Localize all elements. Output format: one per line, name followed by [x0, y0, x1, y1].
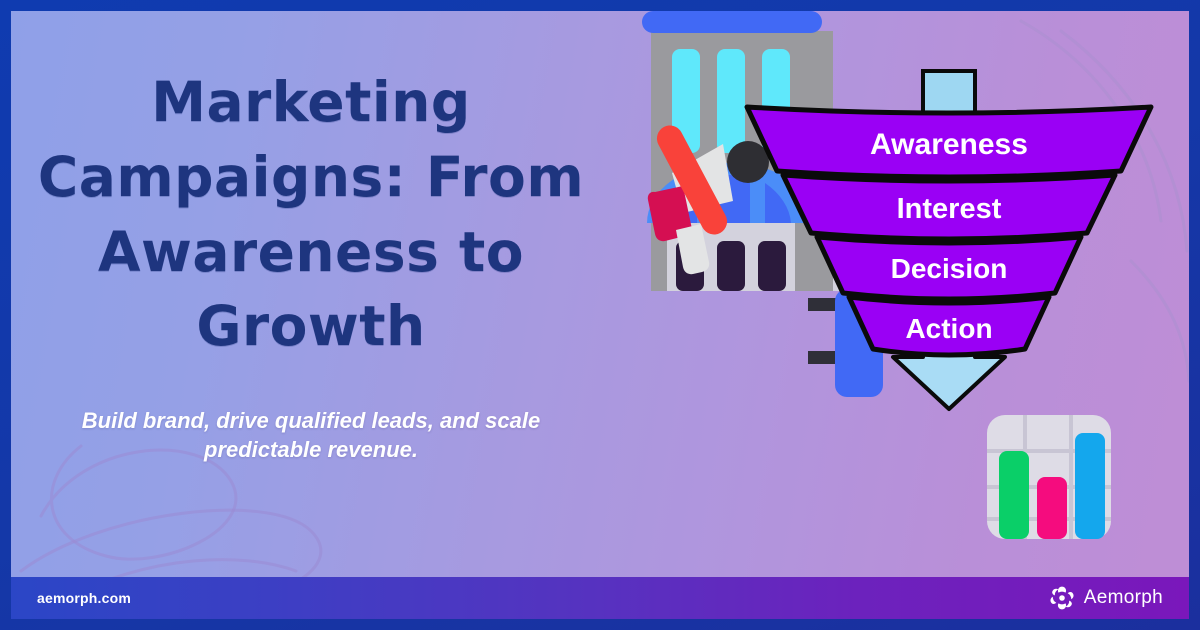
poster-canvas: Marketing Campaigns: From Awareness to G… [0, 0, 1200, 630]
funnel-stage-label: Awareness [870, 128, 1028, 161]
funnel-stage-action[interactable]: Action [849, 297, 1049, 355]
marketing-funnel: Awareness Interest Decision Action [739, 61, 1159, 421]
page-subtitle: Build brand, drive qualified leads, and … [11, 406, 611, 465]
footer-bar: aemorph.com Aemorph [11, 577, 1189, 619]
brand-lockup[interactable]: Aemorph [1049, 585, 1163, 611]
funnel-inlet [923, 71, 975, 113]
funnel-stage-awareness[interactable]: Awareness [747, 107, 1151, 177]
aemorph-pinwheel-logo-icon [1049, 585, 1075, 611]
chart-bar-2 [1037, 477, 1067, 539]
illustration-area: Awareness Interest Decision Action [611, 11, 1189, 619]
funnel-stage-label: Decision [891, 253, 1008, 284]
funnel-stage-label: Action [905, 313, 992, 344]
poster-stage: Marketing Campaigns: From Awareness to G… [11, 11, 1189, 619]
chart-bar-1 [999, 451, 1029, 539]
funnel-stage-label: Interest [897, 193, 1002, 225]
page-title: Marketing Campaigns: From Awareness to G… [11, 65, 611, 364]
funnel-stage-interest[interactable]: Interest [783, 175, 1115, 239]
brand-name-label: Aemorph [1084, 587, 1163, 609]
text-column: Marketing Campaigns: From Awareness to G… [11, 65, 611, 465]
footer-website-url[interactable]: aemorph.com [37, 590, 131, 606]
bar-chart-icon [979, 407, 1129, 557]
building-roof-cap [642, 11, 822, 33]
chart-bar-3 [1075, 433, 1105, 539]
funnel-stage-decision[interactable]: Decision [817, 237, 1081, 299]
